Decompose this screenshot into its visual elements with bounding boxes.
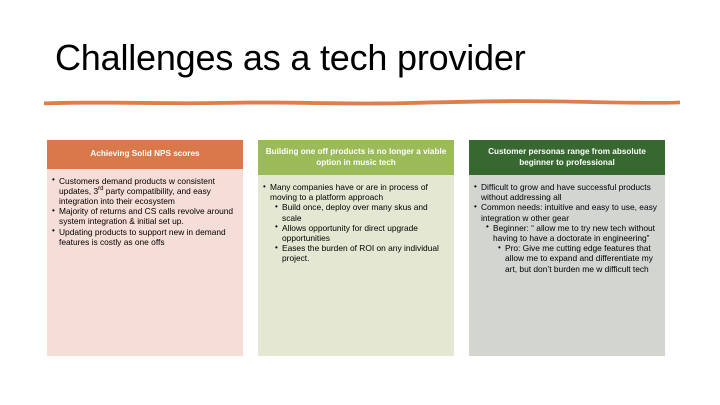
list-item: Majority of returns and CS calls revolve…: [51, 206, 237, 226]
column-personas: Customer personas range from absolute be…: [469, 140, 665, 356]
list-item: Many companies have or are in process of…: [262, 182, 448, 202]
bullet-list-personas: Difficult to grow and have successful pr…: [473, 182, 659, 274]
list-item: Allows opportunity for direct upgrade op…: [274, 223, 448, 243]
bullet-list-nps: Customers demand products w consistent u…: [51, 176, 237, 247]
list-item: Pro: Give me cutting edge features that …: [497, 243, 659, 274]
list-item: Difficult to grow and have successful pr…: [473, 182, 659, 202]
list-item: Beginner: “ allow me to try new tech wit…: [485, 223, 659, 243]
list-item: Customers demand products w consistent u…: [51, 176, 237, 207]
list-item: Build once, deploy over many skus and sc…: [274, 202, 448, 222]
column-body-platform: Many companies have or are in process of…: [258, 175, 454, 356]
bullet-list-platform: Many companies have or are in process of…: [262, 182, 448, 264]
title-divider-line: [44, 92, 680, 108]
slide-canvas: Challenges as a tech provider Achieving …: [0, 0, 720, 405]
column-nps: Achieving Solid NPS scores Customers dem…: [47, 140, 243, 356]
column-body-nps: Customers demand products w consistent u…: [47, 169, 243, 357]
three-column-group: Achieving Solid NPS scores Customers dem…: [47, 140, 673, 356]
column-platform: Building one off products is no longer a…: [258, 140, 454, 356]
column-header-personas: Customer personas range from absolute be…: [469, 140, 665, 175]
page-title: Challenges as a tech provider: [55, 36, 675, 80]
column-header-platform: Building one off products is no longer a…: [258, 140, 454, 175]
column-body-personas: Difficult to grow and have successful pr…: [469, 175, 665, 356]
list-item: Common needs: intuitive and easy to use,…: [473, 202, 659, 222]
divider-brushstroke-icon: [44, 92, 680, 108]
column-header-nps: Achieving Solid NPS scores: [47, 140, 243, 169]
list-item: Eases the burden of ROI on any individua…: [274, 243, 448, 263]
list-item: Updating products to support new in dema…: [51, 227, 237, 247]
